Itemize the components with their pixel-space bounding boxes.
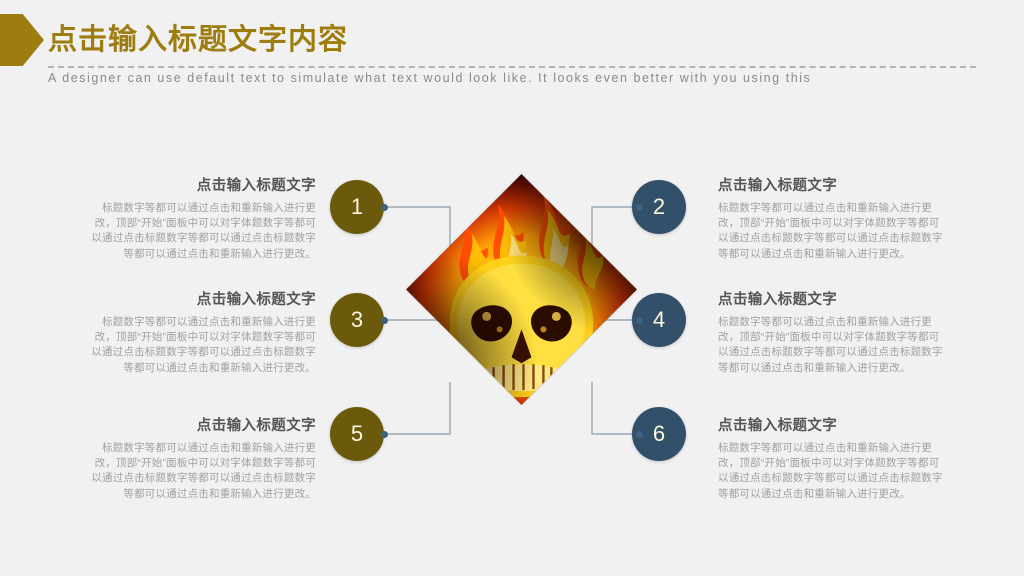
block-heading-1: 点击输入标题文字 (88, 176, 316, 196)
node-dot-4 (636, 317, 643, 324)
node-circle-1[interactable]: 1 (330, 180, 384, 234)
block-body-1: 标题数字等都可以通过点击和重新输入进行更改，顶部“开始”面板中可以对字体题数字等… (88, 201, 316, 262)
block-body-4: 标题数字等都可以通过点击和重新输入进行更改，顶部“开始”面板中可以对字体题数字等… (718, 315, 946, 376)
node-number-5: 5 (351, 421, 363, 447)
block-heading-3: 点击输入标题文字 (88, 290, 316, 310)
node-number-1: 1 (351, 194, 363, 220)
text-block-3: 点击输入标题文字 标题数字等都可以通过点击和重新输入进行更改，顶部“开始”面板中… (88, 290, 316, 376)
node-dot-5 (381, 431, 388, 438)
text-block-6: 点击输入标题文字 标题数字等都可以通过点击和重新输入进行更改，顶部“开始”面板中… (718, 416, 946, 502)
node-dot-1 (381, 204, 388, 211)
slide-header: 点击输入标题文字内容 A designer can use default te… (0, 0, 1024, 100)
node-number-3: 3 (351, 307, 363, 333)
node-dot-6 (636, 431, 643, 438)
node-number-6: 6 (653, 421, 665, 447)
six-node-diamond-diagram: 1 3 5 2 4 6 点击输入标题文字 标题数字等都可以通过点击和重新输入进行… (0, 150, 1024, 490)
node-number-4: 4 (653, 307, 665, 333)
text-block-5: 点击输入标题文字 标题数字等都可以通过点击和重新输入进行更改，顶部“开始”面板中… (88, 416, 316, 502)
block-heading-5: 点击输入标题文字 (88, 416, 316, 436)
chevron-right-banner-icon (0, 14, 44, 66)
node-circle-3[interactable]: 3 (330, 293, 384, 347)
block-heading-4: 点击输入标题文字 (718, 290, 946, 310)
node-circle-5[interactable]: 5 (330, 407, 384, 461)
block-heading-6: 点击输入标题文字 (718, 416, 946, 436)
block-body-6: 标题数字等都可以通过点击和重新输入进行更改，顶部“开始”面板中可以对字体题数字等… (718, 441, 946, 502)
connector-node-5 (384, 382, 450, 434)
node-dot-3 (381, 317, 388, 324)
text-block-2: 点击输入标题文字 标题数字等都可以通过点击和重新输入进行更改，顶部“开始”面板中… (718, 176, 946, 262)
page-subtitle: A designer can use default text to simul… (48, 71, 811, 85)
connector-node-1 (384, 207, 450, 257)
block-body-5: 标题数字等都可以通过点击和重新输入进行更改，顶部“开始”面板中可以对字体题数字等… (88, 441, 316, 502)
node-dot-2 (636, 204, 643, 211)
text-block-1: 点击输入标题文字 标题数字等都可以通过点击和重新输入进行更改，顶部“开始”面板中… (88, 176, 316, 262)
text-block-4: 点击输入标题文字 标题数字等都可以通过点击和重新输入进行更改，顶部“开始”面板中… (718, 290, 946, 376)
page-title: 点击输入标题文字内容 (48, 20, 348, 60)
node-number-2: 2 (653, 194, 665, 220)
block-body-2: 标题数字等都可以通过点击和重新输入进行更改，顶部“开始”面板中可以对字体题数字等… (718, 201, 946, 262)
block-heading-2: 点击输入标题文字 (718, 176, 946, 196)
title-divider (48, 66, 976, 68)
block-body-3: 标题数字等都可以通过点击和重新输入进行更改，顶部“开始”面板中可以对字体题数字等… (88, 315, 316, 376)
